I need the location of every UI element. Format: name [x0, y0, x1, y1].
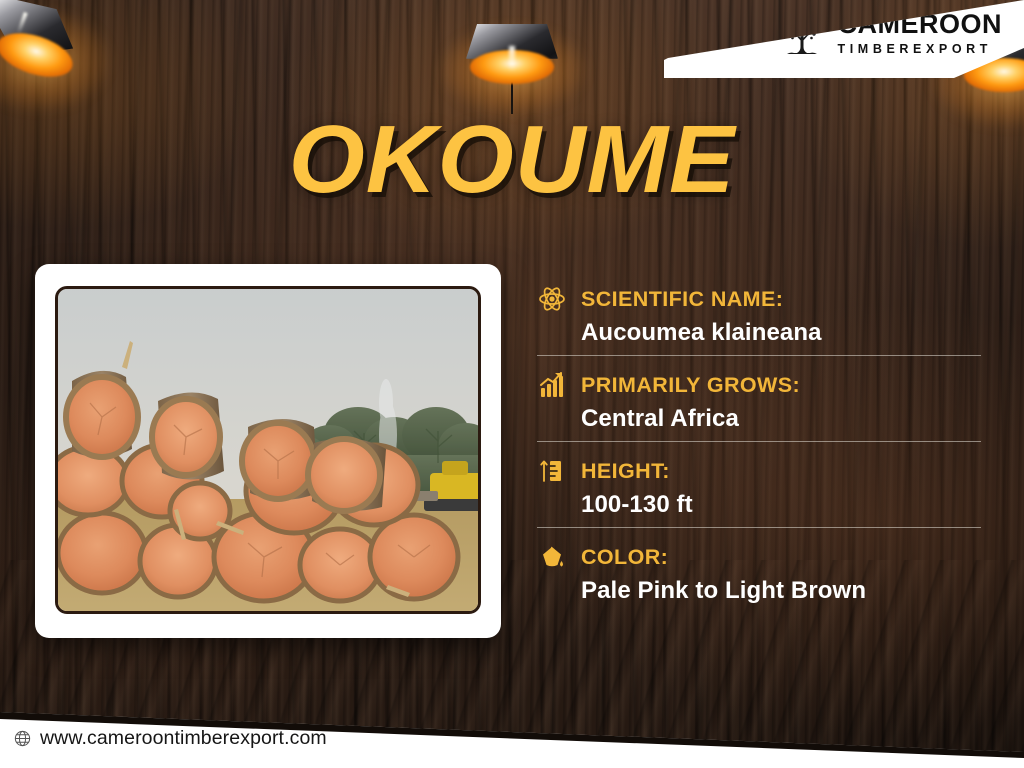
info-value: Aucoumea klaineana — [581, 319, 981, 347]
info-value: 100-130 ft — [581, 491, 981, 519]
info-label: HEIGHT: — [581, 459, 670, 484]
timber-photo-image — [58, 289, 478, 611]
poster-canvas: CAMEROON TIMBEREXPORT OKOUME — [0, 0, 1024, 768]
info-row-height: HEIGHT: 100-130 ft — [537, 441, 981, 527]
info-value: Pale Pink to Light Brown — [581, 577, 981, 605]
info-row-header: COLOR: — [537, 542, 981, 572]
info-row-header: SCIENTIFIC NAME: — [537, 284, 981, 314]
globe-icon — [14, 730, 31, 747]
info-label: SCIENTIFIC NAME: — [581, 287, 783, 312]
brand-name-secondary: TIMBEREXPORT — [838, 43, 1003, 56]
paint-bucket-icon — [537, 542, 567, 572]
pendant-lamp-left — [0, 0, 86, 78]
info-row-header: HEIGHT: — [537, 456, 981, 486]
pendant-lamp-center — [466, 24, 558, 82]
info-label: PRIMARILY GROWS: — [581, 373, 800, 398]
height-ruler-icon — [537, 456, 567, 486]
timber-photo — [55, 286, 481, 614]
bar-chart-icon — [537, 370, 567, 400]
footer: www.cameroontimberexport.com — [0, 708, 1024, 768]
info-row-primarily-grows: PRIMARILY GROWS: Central Africa — [537, 355, 981, 441]
website-url[interactable]: www.cameroontimberexport.com — [40, 727, 327, 750]
species-info-panel: SCIENTIFIC NAME: Aucoumea klaineana PRIM… — [537, 278, 981, 613]
page-title: OKOUME — [0, 105, 1024, 215]
info-row-header: PRIMARILY GROWS: — [537, 370, 981, 400]
lamp-spark — [509, 46, 515, 72]
info-row-scientific-name: SCIENTIFIC NAME: Aucoumea klaineana — [537, 278, 981, 355]
info-row-color: COLOR: Pale Pink to Light Brown — [537, 527, 981, 613]
atom-icon — [537, 284, 567, 314]
info-label: COLOR: — [581, 545, 668, 570]
photo-frame — [35, 264, 501, 638]
info-value: Central Africa — [581, 405, 981, 433]
